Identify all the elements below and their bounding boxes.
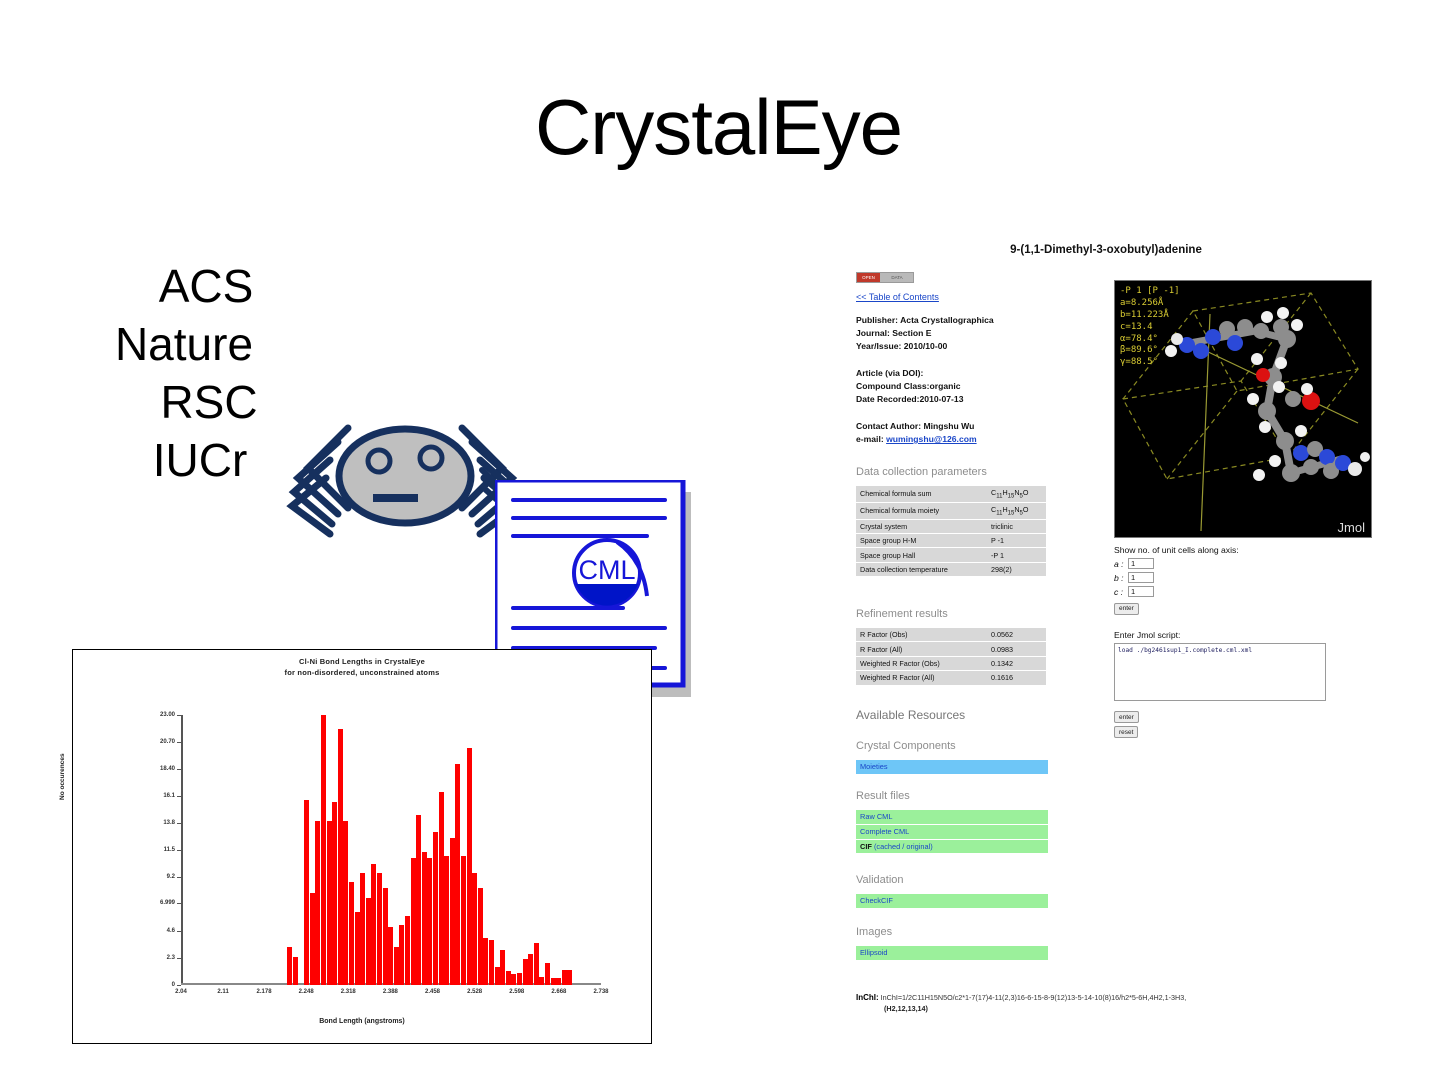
histogram-bar bbox=[310, 893, 315, 985]
section-heading-validation: Validation bbox=[856, 874, 904, 886]
table-cell-key: Data collection temperature bbox=[856, 562, 987, 576]
histogram-bar bbox=[545, 963, 550, 985]
y-axis-tick-mark bbox=[177, 715, 181, 716]
jmol-cell-parameters: -P 1 [P -1] a=8.256Å b=11.223Å c=13.4 α=… bbox=[1120, 286, 1180, 369]
section-heading-refinement: Refinement results bbox=[856, 608, 948, 620]
meta-publisher-line: Publisher: Acta Crystallographica bbox=[856, 314, 994, 327]
table-of-contents-link[interactable]: << Table of Contents bbox=[856, 292, 939, 302]
meta-date-recorded: Date Recorded:2010-07-13 bbox=[856, 393, 963, 406]
y-axis-tick-mark bbox=[177, 796, 181, 797]
y-axis-line bbox=[181, 715, 183, 985]
data-collection-table: Chemical formula sumC11H15N5OChemical fo… bbox=[856, 486, 1046, 577]
x-axis-tick-label: 2.178 bbox=[257, 989, 272, 995]
x-axis-tick-label: 2.458 bbox=[425, 989, 440, 995]
histogram-bar bbox=[422, 852, 427, 985]
histogram-bar bbox=[355, 912, 360, 985]
histogram-bar bbox=[528, 954, 533, 985]
section-heading-crystal-components: Crystal Components bbox=[856, 740, 956, 752]
histogram-bar bbox=[567, 970, 572, 985]
table-row: Chemical formula moietyC11H15N5O bbox=[856, 502, 1046, 519]
table-cell-value: -P 1 bbox=[987, 548, 1046, 562]
axis-label-b: b : bbox=[1114, 573, 1128, 583]
table-cell-key: Chemical formula sum bbox=[856, 486, 987, 502]
histogram-bar bbox=[394, 947, 399, 985]
table-row: R Factor (All)0.0983 bbox=[856, 642, 1046, 656]
table-row: Space group Hall-P 1 bbox=[856, 548, 1046, 562]
inchi-continuation: (H2,12,13,14) bbox=[884, 1004, 1356, 1015]
x-axis-tick-label: 2.248 bbox=[299, 989, 314, 995]
resource-link[interactable]: CIF (cached / original) bbox=[856, 840, 1048, 855]
histogram-bar bbox=[399, 925, 404, 985]
y-axis-tick-mark bbox=[177, 877, 181, 878]
histogram-bar bbox=[427, 858, 432, 985]
table-cell-value: C11H15N5O bbox=[987, 486, 1046, 502]
histogram-bar bbox=[489, 940, 494, 985]
page-title: CrystalEye bbox=[0, 82, 1437, 173]
histogram-bar bbox=[371, 864, 376, 985]
histogram-bar bbox=[383, 888, 388, 985]
table-cell-value: triclinic bbox=[987, 519, 1046, 533]
unit-cell-label: Show no. of unit cells along axis: bbox=[1114, 545, 1364, 555]
compound-title: 9-(1,1-Dimethyl-3-oxobutyl)adenine bbox=[846, 244, 1366, 256]
inchi-label: InChI: bbox=[856, 993, 879, 1002]
resource-link[interactable]: Raw CML bbox=[856, 810, 1048, 825]
axis-label-c: c : bbox=[1114, 587, 1128, 597]
table-cell-value: C11H15N5O bbox=[987, 502, 1046, 519]
jmol-logo: Jmol bbox=[1338, 520, 1365, 535]
histogram-bar bbox=[517, 973, 522, 985]
histogram-bar bbox=[483, 938, 488, 985]
section-heading-result-files: Result files bbox=[856, 790, 910, 802]
table-cell-key: Space group H-M bbox=[856, 534, 987, 548]
histogram-bar bbox=[539, 977, 544, 985]
histogram-bar bbox=[388, 927, 393, 985]
jmol-script-reset-button[interactable]: reset bbox=[1114, 726, 1138, 738]
table-row: Space group H-MP -1 bbox=[856, 534, 1046, 548]
histogram-bar bbox=[327, 821, 332, 985]
jmol-viewer[interactable]: -P 1 [P -1] a=8.256Å b=11.223Å c=13.4 α=… bbox=[1114, 280, 1372, 538]
contact-metadata: Contact Author: Mingshu Wu e-mail: wumin… bbox=[856, 420, 977, 446]
x-axis-tick-label: 2.738 bbox=[593, 989, 608, 995]
histogram-bar bbox=[338, 729, 343, 985]
histogram-bar bbox=[562, 970, 567, 985]
table-cell-value: 0.0983 bbox=[987, 642, 1046, 656]
histogram-bar bbox=[405, 916, 410, 985]
histogram-bar bbox=[467, 748, 472, 985]
histogram-bar bbox=[511, 974, 516, 985]
table-row: Weighted R Factor (Obs)0.1342 bbox=[856, 656, 1046, 670]
histogram-bar bbox=[315, 821, 320, 985]
table-cell-value: 0.1342 bbox=[987, 656, 1046, 670]
axis-label-a: a : bbox=[1114, 559, 1128, 569]
table-cell-value: 298(2) bbox=[987, 562, 1046, 576]
publisher-item-acs: ACS bbox=[60, 258, 350, 316]
resource-link[interactable]: Ellipsoid bbox=[856, 946, 1048, 961]
histogram-bar bbox=[433, 832, 438, 985]
resource-link[interactable]: CheckCIF bbox=[856, 894, 1048, 909]
jmol-script-area: Enter Jmol script: enter reset bbox=[1114, 630, 1364, 738]
meta-compound-class: Compound Class:organic bbox=[856, 380, 963, 393]
unit-cell-enter-button[interactable]: enter bbox=[1114, 603, 1139, 615]
meta-article-doi-line: Article (via DOI): bbox=[856, 367, 963, 380]
table-cell-key: R Factor (All) bbox=[856, 642, 987, 656]
meta-journal-line: Journal: Section E bbox=[856, 327, 994, 340]
table-cell-key: Space group Hall bbox=[856, 548, 987, 562]
histogram-bar bbox=[556, 978, 561, 985]
axis-row-a: a : bbox=[1114, 558, 1364, 569]
histogram-bar bbox=[293, 957, 298, 985]
histogram-bar bbox=[450, 838, 455, 985]
histogram-bar bbox=[534, 943, 539, 985]
table-cell-key: R Factor (Obs) bbox=[856, 628, 987, 642]
x-axis-tick-label: 2.598 bbox=[509, 989, 524, 995]
histogram-bar bbox=[461, 856, 466, 985]
cml-document-label: CML bbox=[578, 555, 635, 585]
result-files-list: Raw CMLComplete CMLCIF (cached / origina… bbox=[856, 810, 1048, 854]
resource-link[interactable]: Complete CML bbox=[856, 825, 1048, 840]
section-heading-data-collection: Data collection parameters bbox=[856, 466, 987, 478]
jmol-script-label: Enter Jmol script: bbox=[1114, 630, 1364, 640]
chart-plot-area: 23.0020.7018.4016.113.811.59.26.9994.62.… bbox=[181, 715, 601, 985]
y-axis-tick-mark bbox=[177, 931, 181, 932]
histogram-bar bbox=[304, 800, 309, 985]
table-row: Chemical formula sumC11H15N5O bbox=[856, 486, 1046, 502]
histogram-bar bbox=[551, 978, 556, 985]
chart-xlabel: Bond Length (angstroms) bbox=[73, 1018, 651, 1025]
y-axis-tick-mark bbox=[177, 742, 181, 743]
x-axis-tick-label: 2.668 bbox=[551, 989, 566, 995]
table-cell-value: 0.0562 bbox=[987, 628, 1046, 642]
histogram-bar bbox=[343, 821, 348, 985]
table-cell-key: Chemical formula moiety bbox=[856, 502, 987, 519]
jmol-script-enter-button[interactable]: enter bbox=[1114, 711, 1139, 723]
histogram-bar bbox=[495, 967, 500, 985]
badge-left-label: OPEN bbox=[857, 273, 880, 282]
histogram-bar bbox=[439, 792, 444, 985]
table-row: R Factor (Obs)0.0562 bbox=[856, 628, 1046, 642]
y-axis-tick-mark bbox=[177, 958, 181, 959]
section-heading-available-resources: Available Resources bbox=[856, 708, 965, 722]
table-cell-key: Weighted R Factor (Obs) bbox=[856, 656, 987, 670]
table-row: Data collection temperature298(2) bbox=[856, 562, 1046, 576]
x-axis-tick-label: 2.318 bbox=[341, 989, 356, 995]
histogram-bar bbox=[366, 898, 371, 985]
inchi-value: InChI=1/2C11H15N5O/c2*1-7(17)4-11(2,3)16… bbox=[881, 993, 1187, 1002]
badge-right-label: DATA bbox=[881, 273, 913, 282]
histogram-bar bbox=[416, 815, 421, 985]
histogram-bar bbox=[444, 856, 449, 985]
open-data-badge: OPEN DATA bbox=[856, 272, 914, 283]
table-row: Weighted R Factor (All)0.1616 bbox=[856, 671, 1046, 685]
histogram-bar bbox=[455, 764, 460, 985]
validation-list: CheckCIF bbox=[856, 894, 1048, 909]
y-axis-tick-mark bbox=[177, 823, 181, 824]
axis-input-b[interactable] bbox=[1128, 572, 1154, 583]
histogram-bar bbox=[411, 858, 416, 985]
meta-yearissue-line: Year/Issue: 2010/10-00 bbox=[856, 340, 994, 353]
table-cell-value: P -1 bbox=[987, 534, 1046, 548]
y-axis-tick-mark bbox=[177, 903, 181, 904]
y-axis-tick-mark bbox=[177, 985, 181, 986]
y-axis-tick-mark bbox=[177, 850, 181, 851]
histogram-bar bbox=[506, 971, 511, 985]
histogram-bar bbox=[349, 882, 354, 985]
x-axis-tick-label: 2.04 bbox=[175, 989, 187, 995]
email-label: e-mail: bbox=[856, 434, 884, 444]
table-cell-key: Crystal system bbox=[856, 519, 987, 533]
histogram-bar bbox=[472, 873, 477, 985]
publication-metadata: Publisher: Acta Crystallographica Journa… bbox=[856, 314, 994, 353]
histogram-bar bbox=[360, 873, 365, 985]
axis-input-c[interactable] bbox=[1128, 586, 1154, 597]
section-heading-images: Images bbox=[856, 926, 892, 938]
axis-row-b: b : bbox=[1114, 572, 1364, 583]
contact-author-line: Contact Author: Mingshu Wu bbox=[856, 420, 977, 433]
jmol-script-buttons: enter reset bbox=[1114, 711, 1364, 738]
histogram-bar bbox=[377, 873, 382, 985]
histogram-bar bbox=[287, 947, 292, 985]
bond-length-histogram: Cl-Ni Bond Lengths in CrystalEye for non… bbox=[72, 649, 652, 1044]
crystal-components-list: Moieties bbox=[856, 760, 1048, 775]
histogram-bar bbox=[321, 715, 326, 985]
histogram-bar bbox=[478, 888, 483, 985]
axis-row-c: c : bbox=[1114, 586, 1364, 597]
article-metadata: Article (via DOI): Compound Class:organi… bbox=[856, 367, 963, 406]
histogram-bar bbox=[523, 959, 528, 985]
x-axis-tick-label: 2.388 bbox=[383, 989, 398, 995]
chart-ylabel: No occurences bbox=[59, 753, 66, 800]
y-axis-tick-mark bbox=[177, 769, 181, 770]
table-row: Crystal systemtriclinic bbox=[856, 519, 1046, 533]
x-axis-tick-label: 2.11 bbox=[217, 989, 228, 995]
axis-input-a[interactable] bbox=[1128, 558, 1154, 569]
chart-title: Cl-Ni Bond Lengths in CrystalEye for non… bbox=[73, 656, 651, 679]
table-cell-key: Weighted R Factor (All) bbox=[856, 671, 987, 685]
contact-email-link[interactable]: wumingshu@126.com bbox=[886, 434, 977, 444]
refinement-results-table: R Factor (Obs)0.0562R Factor (All)0.0983… bbox=[856, 628, 1046, 686]
x-axis-tick-label: 2.528 bbox=[467, 989, 482, 995]
crystaleye-entry-page: 9-(1,1-Dimethyl-3-oxobutyl)adenine OPEN … bbox=[846, 240, 1386, 1030]
moieties-link[interactable]: Moieties bbox=[856, 760, 1048, 775]
images-list: Ellipsoid bbox=[856, 946, 1048, 961]
jmol-script-input[interactable] bbox=[1114, 643, 1326, 701]
unit-cell-controls: Show no. of unit cells along axis: a : b… bbox=[1114, 545, 1364, 615]
publisher-item-nature: Nature bbox=[60, 316, 350, 374]
inchi-block: InChI: InChI=1/2C11H15N5O/c2*1-7(17)4-11… bbox=[856, 992, 1356, 1015]
table-cell-value: 0.1616 bbox=[987, 671, 1046, 685]
histogram-bar bbox=[332, 802, 337, 985]
histogram-bar bbox=[500, 950, 505, 985]
